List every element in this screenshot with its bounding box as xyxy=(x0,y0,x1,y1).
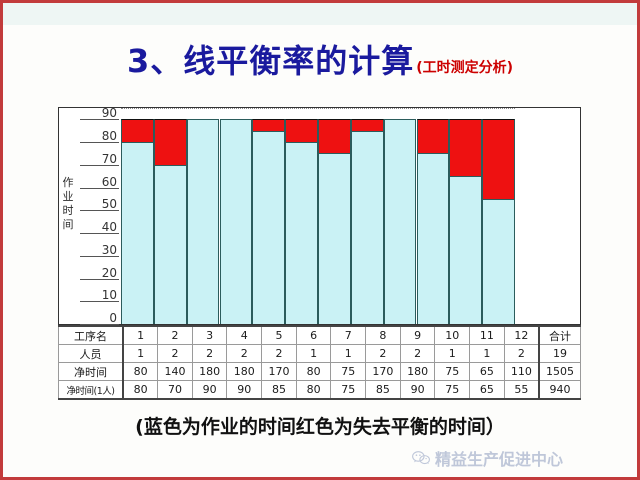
bar-column xyxy=(285,108,318,324)
bar-column xyxy=(252,108,285,324)
table-cell: 1 xyxy=(296,345,331,363)
bar-segment-loss-time xyxy=(351,119,384,130)
table-cell: 2 xyxy=(192,345,227,363)
table-cell: 4 xyxy=(227,326,262,345)
bar-segment-work-time xyxy=(482,199,515,324)
y-axis-tick-label: 10 xyxy=(80,290,117,300)
y-axis-title-char: 业 xyxy=(60,190,76,204)
table-cell-total: 1505 xyxy=(539,363,581,381)
table-cell: 65 xyxy=(470,363,505,381)
table-cell: 1 xyxy=(331,345,366,363)
table-row-header: 工序名 xyxy=(59,326,124,345)
table-cell: 90 xyxy=(192,381,227,400)
bar-segment-work-time xyxy=(154,165,187,324)
table-cell: 85 xyxy=(262,381,297,400)
table-cell: 1 xyxy=(123,326,158,345)
bar-column xyxy=(384,108,417,324)
table-cell: 180 xyxy=(400,363,435,381)
table-cell: 180 xyxy=(192,363,227,381)
bar-segment-work-time xyxy=(121,142,154,324)
bar-segment-work-time xyxy=(285,142,318,324)
y-axis-tick-label: 0 xyxy=(80,313,117,323)
bar-segment-loss-time xyxy=(318,119,351,153)
table-cell: 80 xyxy=(123,381,158,400)
bar-column xyxy=(121,108,154,324)
table-row: 净时间80140180180170807517018075651101505 xyxy=(59,363,581,381)
table-cell: 9 xyxy=(400,326,435,345)
bar-segment-work-time xyxy=(220,119,253,324)
bar-segment-loss-time xyxy=(154,119,187,164)
table-cell: 5 xyxy=(262,326,297,345)
table-row: 净时间(1人)807090908580758590756555940 xyxy=(59,381,581,400)
table-row: 人员12222112211219 xyxy=(59,345,581,363)
bar-column xyxy=(417,108,450,324)
table-cell: 170 xyxy=(262,363,297,381)
table-cell: 1 xyxy=(435,345,470,363)
table-cell: 7 xyxy=(331,326,366,345)
y-axis-tick-label: 90 xyxy=(80,108,117,118)
y-axis-tick-label: 30 xyxy=(80,245,117,255)
y-axis-title-char: 作 xyxy=(60,176,76,190)
chart-plot-area xyxy=(121,108,515,324)
bar-segment-loss-time xyxy=(482,119,515,199)
bar-column xyxy=(449,108,482,324)
table-cell-total: 合计 xyxy=(539,326,581,345)
wechat-icon xyxy=(412,450,431,466)
watermark: 精益生产促进中心 xyxy=(412,446,563,470)
bar-segment-loss-time xyxy=(285,119,318,142)
bar-column xyxy=(351,108,384,324)
table-cell: 11 xyxy=(470,326,505,345)
bar-column xyxy=(482,108,515,324)
table-cell: 75 xyxy=(331,363,366,381)
y-axis-title-char: 间 xyxy=(60,218,76,232)
table-cell: 90 xyxy=(227,381,262,400)
table-cell: 70 xyxy=(158,381,193,400)
table-cell: 85 xyxy=(366,381,401,400)
bar-column xyxy=(187,108,220,324)
table-cell: 6 xyxy=(296,326,331,345)
bar-segment-work-time xyxy=(187,119,220,324)
table-row-header: 净时间(1人) xyxy=(59,381,124,400)
y-axis-tick-label: 40 xyxy=(80,222,117,232)
table-cell: 12 xyxy=(504,326,539,345)
table-cell: 2 xyxy=(262,345,297,363)
watermark-label: 精益生产促进中心 xyxy=(435,446,563,470)
y-axis-title-char: 时 xyxy=(60,204,76,218)
table-cell: 65 xyxy=(470,381,505,400)
table-row-header: 人员 xyxy=(59,345,124,363)
table-cell: 80 xyxy=(296,381,331,400)
bar-column xyxy=(220,108,253,324)
bar-segment-work-time xyxy=(449,176,482,324)
table-cell: 80 xyxy=(296,363,331,381)
chart-legend-caption: (蓝色为作业的时间红色为失去平衡的时间） xyxy=(0,412,640,439)
table-cell: 75 xyxy=(331,381,366,400)
table-cell: 180 xyxy=(227,363,262,381)
table-cell: 8 xyxy=(366,326,401,345)
y-axis-ticks: 9080706050403020100 xyxy=(80,108,119,324)
y-axis-tick-label: 60 xyxy=(80,177,117,187)
bar-segment-work-time xyxy=(384,119,417,324)
table-cell: 1 xyxy=(470,345,505,363)
bar-segment-work-time xyxy=(351,131,384,324)
table-cell: 10 xyxy=(435,326,470,345)
table-cell: 3 xyxy=(192,326,227,345)
page-title-subtitle: (工时测定分析) xyxy=(416,60,513,76)
y-axis-title: 作业时间 xyxy=(60,176,76,232)
table-cell-total: 940 xyxy=(539,381,581,400)
table-cell: 2 xyxy=(227,345,262,363)
bar-segment-loss-time xyxy=(121,119,154,142)
bar-segment-loss-time xyxy=(417,119,450,153)
bar-segment-work-time xyxy=(252,131,285,324)
y-axis-tick-label: 80 xyxy=(80,131,117,141)
table-cell: 75 xyxy=(435,363,470,381)
table-cell: 90 xyxy=(400,381,435,400)
process-data-table: 工序名123456789101112合计人员12222112211219净时间8… xyxy=(58,325,581,400)
table-cell: 110 xyxy=(504,363,539,381)
table-cell: 2 xyxy=(504,345,539,363)
y-axis-tick-label: 50 xyxy=(80,199,117,209)
table-cell: 140 xyxy=(158,363,193,381)
bar-segment-work-time xyxy=(417,153,450,324)
page-title: 3、线平衡率的计算(工时测定分析) xyxy=(0,36,640,82)
slide-canvas: 3、线平衡率的计算(工时测定分析) 作业时间 90807060504030201… xyxy=(0,0,640,480)
table-row-header: 净时间 xyxy=(59,363,124,381)
bar-segment-work-time xyxy=(318,153,351,324)
table-cell: 80 xyxy=(123,363,158,381)
table-cell: 2 xyxy=(158,326,193,345)
table-cell: 2 xyxy=(366,345,401,363)
y-axis-tick-label: 20 xyxy=(80,268,117,278)
y-axis-tick-label: 70 xyxy=(80,154,117,164)
table-cell: 1 xyxy=(123,345,158,363)
slide-header-tint xyxy=(3,3,637,25)
table-cell: 55 xyxy=(504,381,539,400)
bar-column xyxy=(318,108,351,324)
table-cell: 2 xyxy=(400,345,435,363)
table-cell: 2 xyxy=(158,345,193,363)
bar-column xyxy=(154,108,187,324)
table-cell: 170 xyxy=(366,363,401,381)
table-row: 工序名123456789101112合计 xyxy=(59,326,581,345)
bar-segment-loss-time xyxy=(252,119,285,130)
table-cell: 75 xyxy=(435,381,470,400)
table-cell-total: 19 xyxy=(539,345,581,363)
bar-segment-loss-time xyxy=(449,119,482,176)
page-title-main: 3、线平衡率的计算 xyxy=(127,42,414,80)
